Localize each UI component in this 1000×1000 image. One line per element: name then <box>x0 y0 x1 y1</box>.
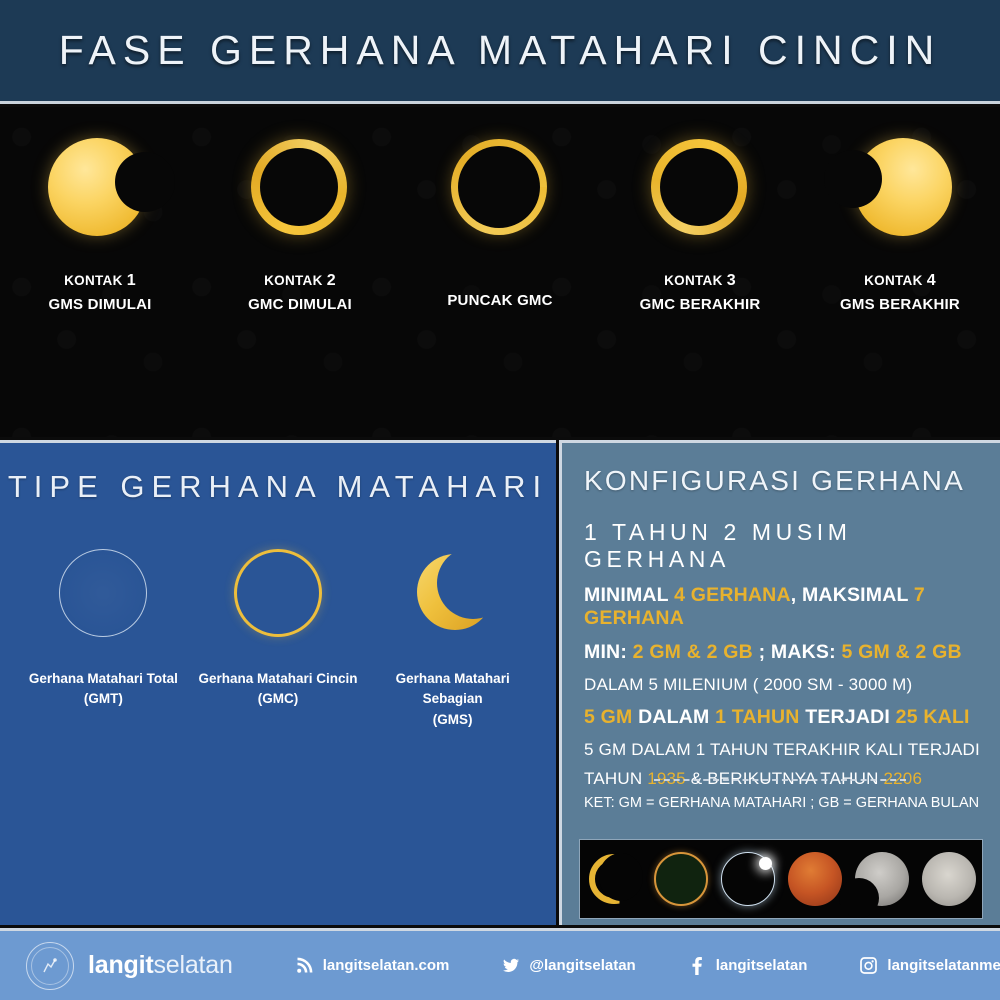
partial-lunar-eclipse-thumb <box>855 852 909 906</box>
line5gm-value-3: 25 KALI <box>896 706 970 728</box>
phase-item-contact-3: KONTAK 3 GMC BERAKHIR <box>600 107 800 437</box>
instagram-icon <box>859 956 878 975</box>
phase-kontak-number: 2 <box>327 272 336 289</box>
phase-kontak-label: KONTAK 4 <box>864 269 936 294</box>
phase-item-contact-1: KONTAK 1 GMS DIMULAI <box>0 107 200 437</box>
phase-sub-label: GMS BERAKHIR <box>840 296 960 313</box>
social-link-instagram[interactable]: langitselatanmedia <box>859 956 1000 975</box>
brand-light-text: selatan <box>153 951 232 979</box>
phase-kontak-label: KONTAK 3 <box>664 269 736 294</box>
phase-kontak-word: KONTAK <box>264 273 323 288</box>
config-milenium-line: DALAM 5 MILENIUM ( 2000 SM - 3000 M) <box>584 675 1000 695</box>
facebook-label: langitselatan <box>716 957 808 974</box>
phase-item-contact-4: KONTAK 4 GMS BERAKHIR <box>800 107 1000 437</box>
twitter-label: @langitselatan <box>529 957 635 974</box>
annular-ring-even-icon <box>445 135 555 245</box>
eclipse-configuration-panel: KONFIGURASI GERHANA 1 TAHUN 2 MUSIM GERH… <box>559 440 1000 925</box>
crescent-sun-icon <box>405 545 501 641</box>
eclipse-type-label: Gerhana Matahari Total (GMT) <box>29 669 178 710</box>
phase-item-contact-2: KONTAK 2 GMC DIMULAI <box>200 107 400 437</box>
config-minmax-line: MINIMAL 4 GERHANA, MAKSIMAL 7 GERHANA <box>584 584 1000 630</box>
phase-kontak-number: 3 <box>727 272 736 289</box>
phase-row: KONTAK 1 GMS DIMULAI KONTAK 2 GMC DIMULA… <box>0 107 1000 437</box>
total-solar-eclipse-thumb <box>721 852 775 906</box>
eclipse-type-abbr: (GMS) <box>433 712 473 727</box>
phase-kontak-label <box>498 269 502 290</box>
minmaks2-value-2: 5 GM & 2 GB <box>841 641 961 663</box>
right-panel-divider <box>654 779 906 781</box>
line5gm-text-1: DALAM <box>632 706 715 728</box>
eclipse-types-row: Gerhana Matahari Total (GMT) Gerhana Mat… <box>0 545 556 730</box>
phase-kontak-word: KONTAK <box>664 273 723 288</box>
eclipse-type-name: Gerhana Matahari Sebagian <box>396 671 510 706</box>
social-link-twitter[interactable]: @langitselatan <box>501 956 635 975</box>
eclipse-type-gms: Gerhana Matahari Sebagian (GMS) <box>365 545 540 730</box>
eclipse-thumbnail-strip <box>579 839 983 919</box>
social-links: langitselatan.com @langitselatan langits… <box>295 956 1000 975</box>
phase-kontak-word: KONTAK <box>864 273 923 288</box>
minmax-text-1: MINIMAL <box>584 584 674 606</box>
full-moon-thumb <box>922 852 976 906</box>
brand-block: langitselatan <box>26 942 233 990</box>
right-panel-title: KONFIGURASI GERHANA <box>584 465 1000 497</box>
phase-sub-label: PUNCAK GMC <box>447 292 552 309</box>
left-panel-title: TIPE GERHANA MATAHARI <box>0 469 556 505</box>
minmax-value-1: 4 GERHANA <box>674 584 791 606</box>
legend-text: KET: GM = GERHANA MATAHARI ; GB = GERHAN… <box>584 795 979 811</box>
instagram-label: langitselatanmedia <box>887 957 1000 974</box>
annular-ring-thick-right-icon <box>645 135 755 245</box>
page-title: FASE GERHANA MATAHARI CINCIN <box>59 27 941 74</box>
twitter-icon <box>501 956 520 975</box>
line5gm-value-1: 5 GM <box>584 706 632 728</box>
minmaks2-text-2: ; MAKS: <box>753 641 841 663</box>
eclipse-type-abbr: (GMT) <box>84 691 123 706</box>
eclipse-type-abbr: (GMC) <box>258 691 299 706</box>
rss-icon <box>295 956 314 975</box>
eclipse-type-gmt: Gerhana Matahari Total (GMT) <box>16 545 191 730</box>
config-minmaks2-line: MIN: 2 GM & 2 GB ; MAKS: 5 GM & 2 GB <box>584 641 1000 664</box>
terakhir-text-1: TAHUN <box>584 769 647 788</box>
phase-kontak-label: KONTAK 1 <box>64 269 136 294</box>
eclipse-type-name: Gerhana Matahari Cincin <box>198 671 357 686</box>
minmaks2-text-1: MIN: <box>584 641 633 663</box>
eclipse-type-label: Gerhana Matahari Sebagian (GMS) <box>365 669 540 730</box>
phase-kontak-number: 4 <box>927 272 936 289</box>
crescent-sun-thumb <box>587 852 641 906</box>
config-5gm-line: 5 GM DALAM 1 TAHUN TERJADI 25 KALI <box>584 706 1000 729</box>
annular-ring-thick-left-icon <box>245 135 355 245</box>
phase-kontak-label: KONTAK 2 <box>264 269 336 294</box>
minmax-text-2: , MAKSIMAL <box>791 584 914 606</box>
eclipse-types-panel: TIPE GERHANA MATAHARI Gerhana Matahari T… <box>0 440 556 925</box>
eclipse-type-label: Gerhana Matahari Cincin (GMC) <box>198 669 357 710</box>
corona-circle-outline-icon <box>55 545 151 641</box>
langitselatan-logo <box>26 942 74 990</box>
infographic-page: FASE GERHANA MATAHARI CINCIN KONTAK 1 GM… <box>0 0 1000 1000</box>
config-season-line: 1 TAHUN 2 MUSIM GERHANA <box>584 519 1000 573</box>
partial-sun-bite-left-icon <box>845 135 955 245</box>
config-terakhir-line-1: 5 GM DALAM 1 TAHUN TERAKHIR KALI TERJADI <box>584 740 1000 760</box>
line5gm-text-2: TERJADI <box>800 706 896 728</box>
phase-item-peak: PUNCAK GMC <box>400 107 600 437</box>
phase-sub-label: GMC BERAKHIR <box>640 296 761 313</box>
eclipse-phases-section: KONTAK 1 GMS DIMULAI KONTAK 2 GMC DIMULA… <box>0 107 1000 437</box>
website-label: langitselatan.com <box>323 957 450 974</box>
social-link-website[interactable]: langitselatan.com <box>295 956 450 975</box>
brand-bold-text: langit <box>88 951 153 979</box>
phase-sub-label: GMS DIMULAI <box>48 296 151 313</box>
phase-kontak-word: KONTAK <box>64 273 123 288</box>
total-lunar-eclipse-thumb <box>788 852 842 906</box>
phase-sub-label: GMC DIMULAI <box>248 296 352 313</box>
annular-eclipse-thumb <box>654 852 708 906</box>
eclipse-type-name: Gerhana Matahari Total <box>29 671 178 686</box>
social-link-facebook[interactable]: langitselatan <box>688 956 808 975</box>
footer-bar: langitselatan langitselatan.com @langits… <box>0 928 1000 1000</box>
annular-ring-icon <box>230 545 326 641</box>
facebook-icon <box>688 956 707 975</box>
brand-wordmark: langitselatan <box>88 951 233 980</box>
header-banner: FASE GERHANA MATAHARI CINCIN <box>0 0 1000 104</box>
phase-kontak-number: 1 <box>127 272 136 289</box>
minmaks2-value-1: 2 GM & 2 GB <box>633 641 753 663</box>
eclipse-type-gmc: Gerhana Matahari Cincin (GMC) <box>191 545 366 730</box>
partial-sun-bite-right-icon <box>45 135 155 245</box>
line5gm-value-2: 1 TAHUN <box>715 706 799 728</box>
